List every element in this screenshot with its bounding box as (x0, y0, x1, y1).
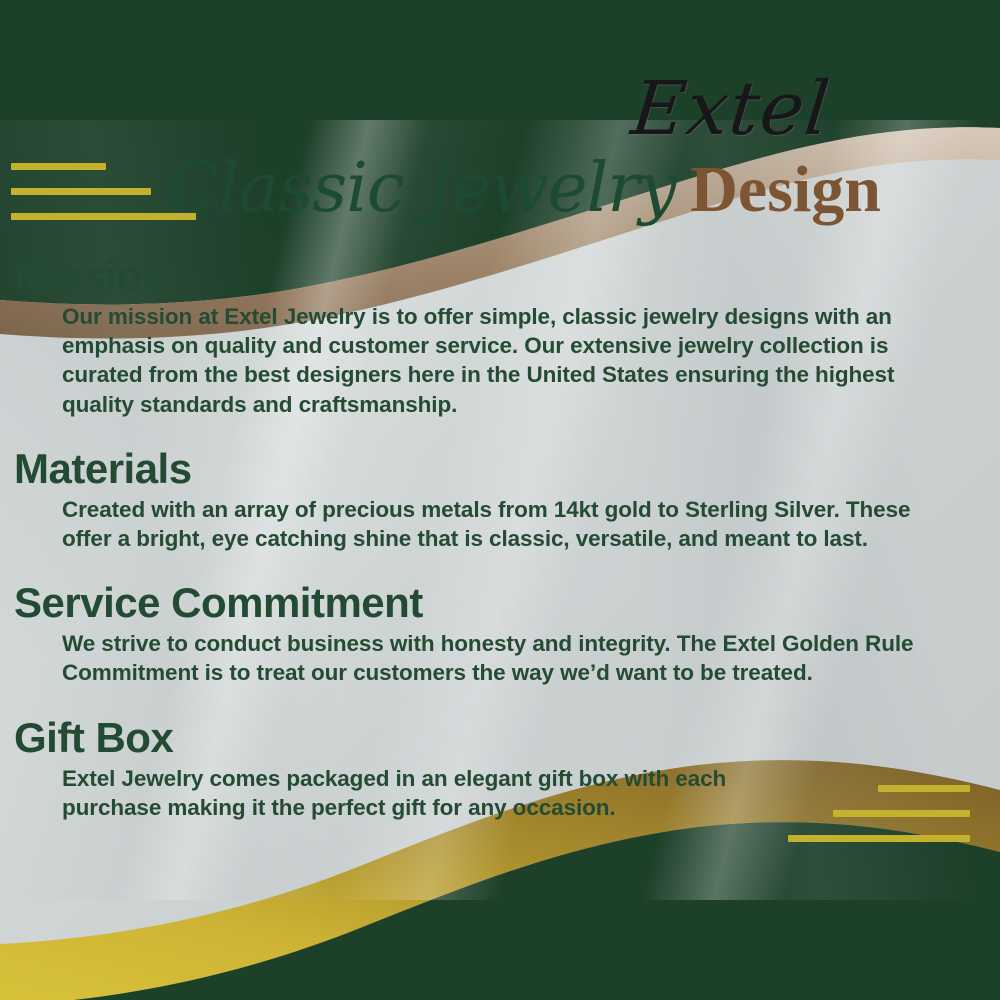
section-heading-service-commitment: Service Commitment (14, 579, 1000, 627)
section-mission: Mission Our mission at Extel Jewelry is … (0, 252, 1000, 419)
page-title: Classic JewelryDesign (0, 155, 1000, 223)
section-service-commitment: Service Commitment We strive to conduct … (0, 579, 1000, 687)
section-body-service-commitment: We strive to conduct business with hones… (62, 629, 966, 688)
gold-rule (788, 835, 970, 842)
page-title-accent: Design (690, 153, 881, 226)
sections-container: Mission Our mission at Extel Jewelry is … (0, 252, 1000, 822)
brand-logo-extel: Extel (628, 72, 834, 146)
section-body-mission: Our mission at Extel Jewelry is to offer… (62, 302, 966, 419)
section-body-materials: Created with an array of precious metals… (62, 495, 966, 554)
section-materials: Materials Created with an array of preci… (0, 445, 1000, 553)
section-heading-mission: Mission (14, 252, 1000, 300)
poster-canvas: Extel Classic JewelryDesign Mission Our … (0, 0, 1000, 1000)
page-title-main: Classic Jewelry (167, 149, 676, 228)
section-heading-gift-box: Gift Box (14, 714, 1000, 762)
section-body-gift-box: Extel Jewelry comes packaged in an elega… (62, 764, 760, 823)
section-heading-materials: Materials (14, 445, 1000, 493)
section-gift-box: Gift Box Extel Jewelry comes packaged in… (0, 714, 1000, 822)
